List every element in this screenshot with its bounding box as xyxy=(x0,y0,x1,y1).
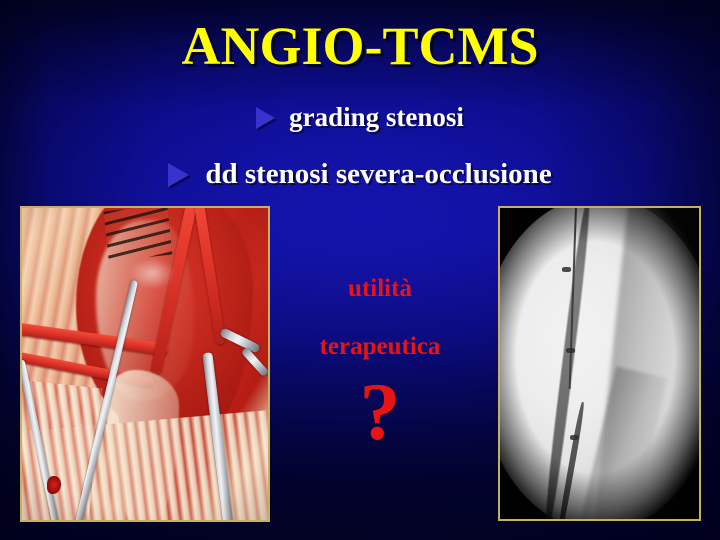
surgical-field-photo-canvas xyxy=(22,208,268,520)
right-triangle-bullet-icon xyxy=(168,163,189,187)
center-annotation-line-2: terapeutica xyxy=(280,334,480,359)
slide: ANGIO-TCMS grading stenosi dd stenosi se… xyxy=(0,0,720,540)
angiogram-vignette xyxy=(500,208,699,519)
bullet-item-grading-stenosi: grading stenosi xyxy=(0,102,720,133)
question-mark-glyph: ? xyxy=(280,371,480,453)
bullet-item-label: grading stenosi xyxy=(289,102,464,133)
right-triangle-bullet-icon xyxy=(256,107,275,129)
surgical-vignette xyxy=(22,208,268,520)
angiogram-photo xyxy=(498,206,701,521)
surgical-field-photo xyxy=(20,206,270,522)
center-annotation: utilità terapeutica ? xyxy=(280,276,480,453)
bullet-item-label: dd stenosi severa-occlusione xyxy=(205,158,551,191)
center-annotation-line-1: utilità xyxy=(280,276,480,301)
slide-title: ANGIO-TCMS xyxy=(0,18,720,75)
angiogram-photo-canvas xyxy=(500,208,699,519)
bullet-item-dd-stenosi-severa-occlusione: dd stenosi severa-occlusione xyxy=(0,158,720,191)
